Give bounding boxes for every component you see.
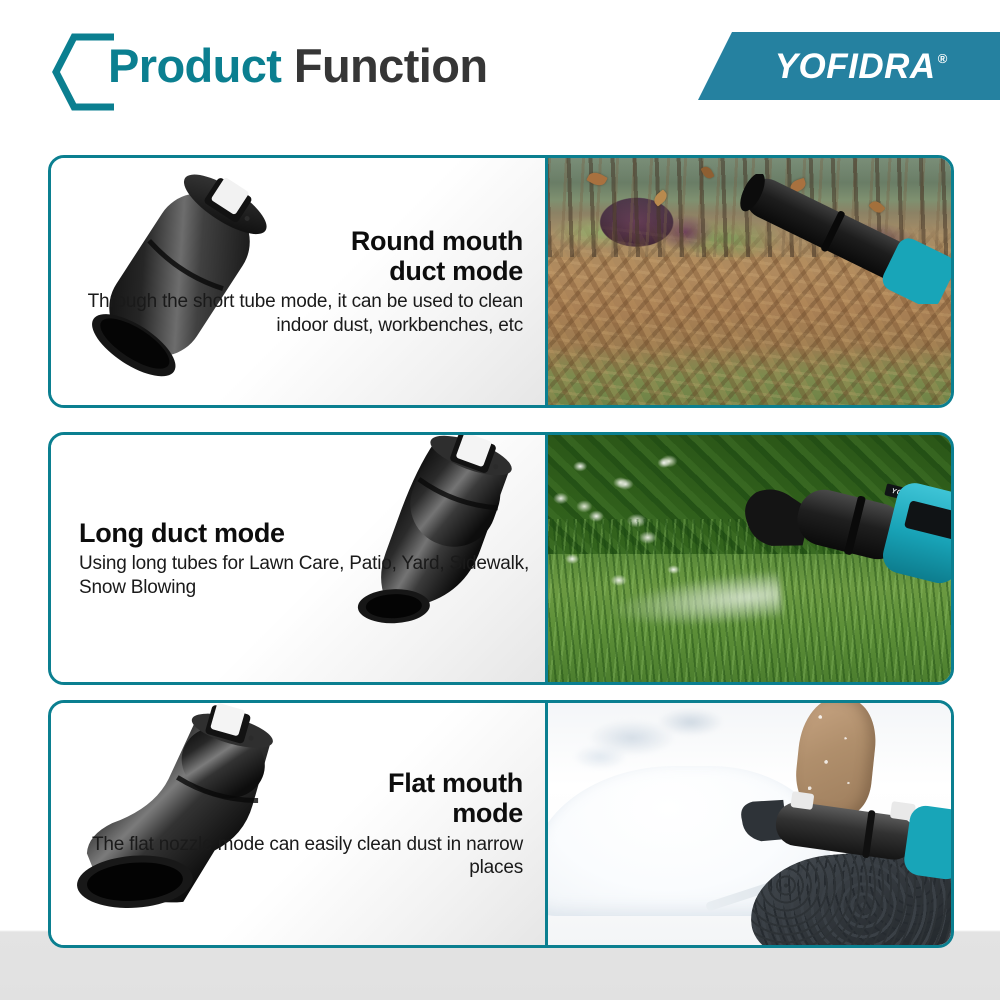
- feature-card-round-mouth-duct-mode: Round mouth duct mode Through the short …: [48, 155, 954, 408]
- card-description: The flat nozzle mode can easily clean du…: [65, 833, 523, 880]
- registered-trademark-icon: ®: [938, 51, 948, 66]
- card-left-panel: Flat mouth mode The flat nozzle mode can…: [51, 703, 545, 945]
- page-header: Product Function YOFIDRA ®: [0, 0, 1000, 130]
- feature-card-long-duct-mode: Long duct mode Using long tubes for Lawn…: [48, 432, 954, 685]
- card-text-block: Round mouth duct mode Through the short …: [51, 226, 545, 338]
- left-chevron-bracket-icon: [52, 33, 114, 111]
- card-text-block: Flat mouth mode The flat nozzle mode can…: [51, 768, 545, 880]
- card-text-block: Long duct mode Using long tubes for Lawn…: [51, 518, 545, 599]
- snow-clearing-photo: [545, 703, 951, 945]
- blower-tool-icon: [711, 435, 951, 631]
- card-left-panel: Round mouth duct mode Through the short …: [51, 158, 545, 405]
- autumn-leaves-blowing-photo: [545, 158, 951, 405]
- lawn-grass-blowing-photo: YOFIDRA: [545, 435, 951, 682]
- page-title: Product Function: [108, 38, 487, 93]
- card-description: Using long tubes for Lawn Care, Patio, Y…: [79, 552, 531, 599]
- card-description: Through the short tube mode, it can be u…: [65, 290, 523, 337]
- blower-tube-tool-icon: [727, 174, 951, 304]
- card-title: Round mouth duct mode: [65, 226, 523, 286]
- blower-flat-nozzle-tool-icon: [734, 787, 951, 897]
- brand-logo-banner: YOFIDRA ®: [698, 32, 1000, 100]
- card-title: Flat mouth mode: [65, 768, 523, 828]
- page-title-main: Function: [294, 39, 488, 92]
- product-function-infographic: Product Function YOFIDRA ®: [0, 0, 1000, 1000]
- card-title: Long duct mode: [79, 518, 531, 548]
- feature-card-flat-mouth-mode: Flat mouth mode The flat nozzle mode can…: [48, 700, 954, 948]
- snow-spray-effect: [564, 703, 790, 790]
- brand-logo-text: YOFIDRA: [775, 49, 936, 84]
- page-title-accent: Product: [108, 39, 281, 92]
- card-left-panel: Long duct mode Using long tubes for Lawn…: [51, 435, 545, 682]
